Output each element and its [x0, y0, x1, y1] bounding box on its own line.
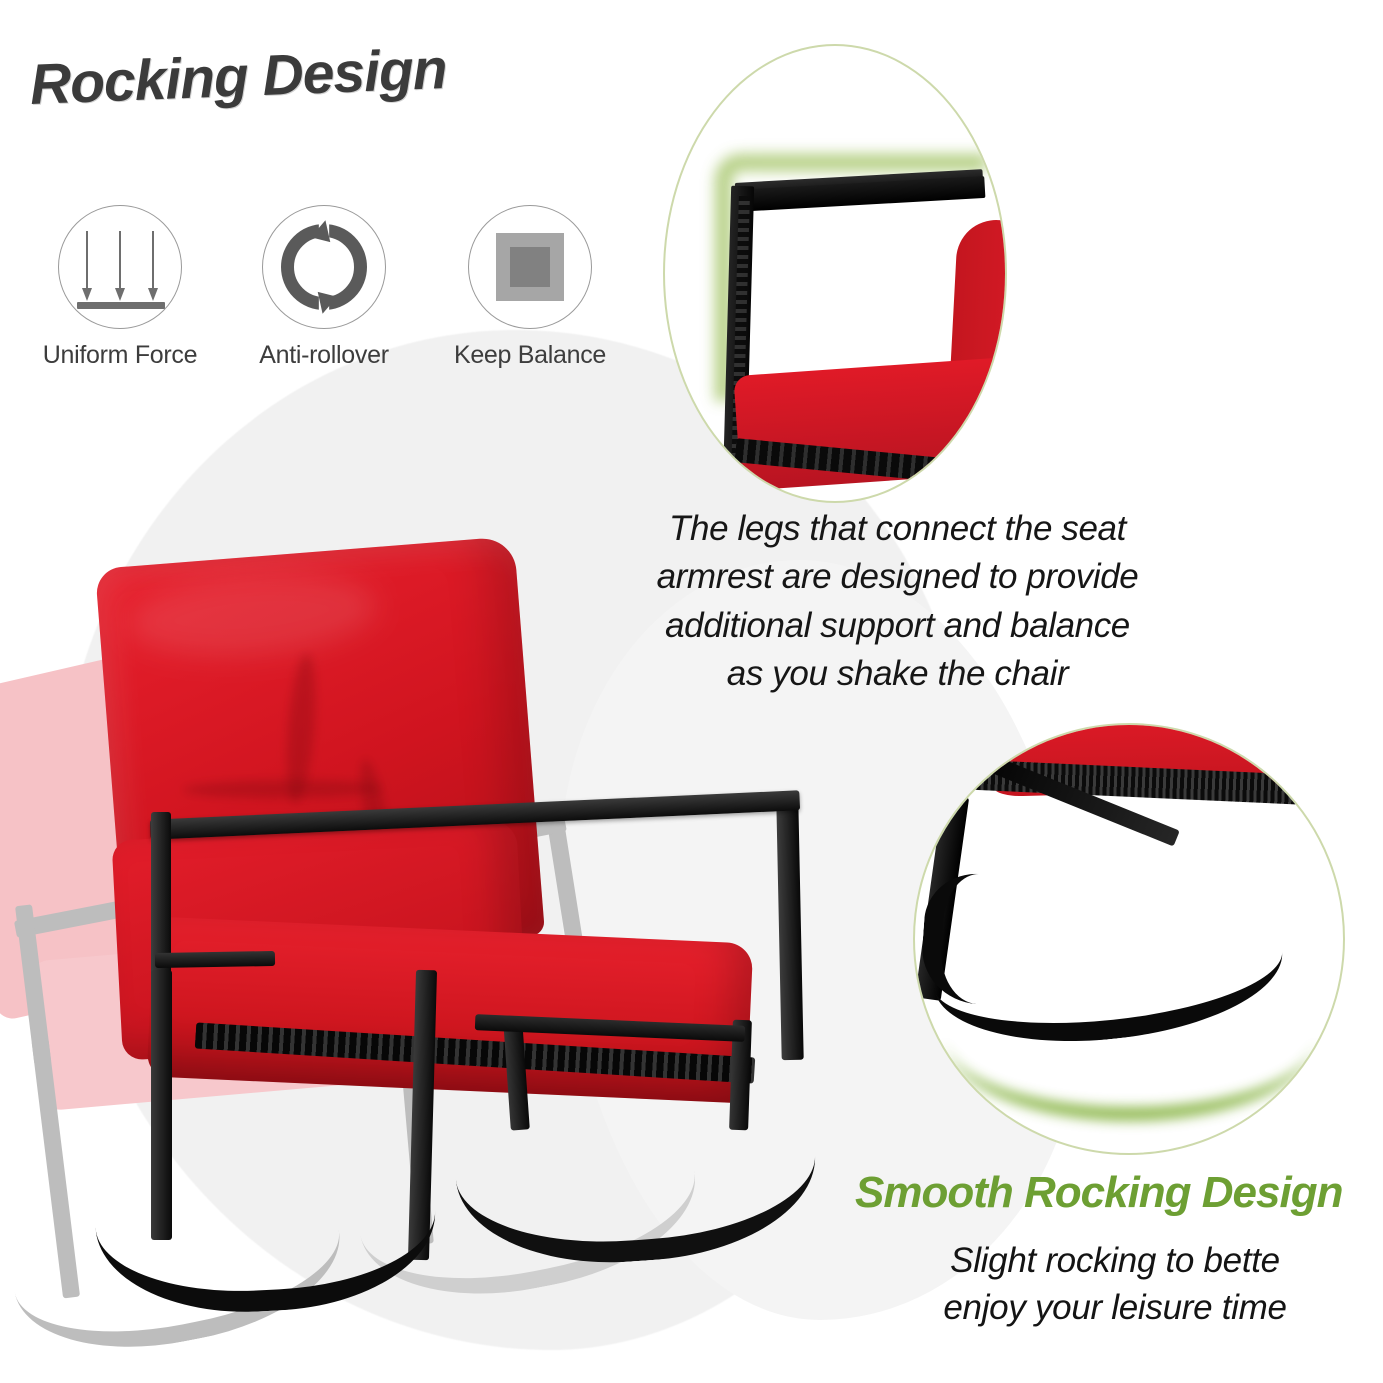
smooth-rocking-headline: Smooth Rocking Design: [855, 1168, 1383, 1218]
feature-label: Keep Balance: [430, 341, 630, 370]
feature-icon-circle: [58, 205, 182, 329]
armrest-bottom-rail: [155, 951, 275, 968]
feature-icon-circle: [262, 205, 386, 329]
feature-list: Uniform Force Anti-rollover Keep Balance: [20, 205, 620, 395]
downward-arrows-on-bar-icon: [59, 206, 181, 328]
armrest-closeup-inset: [663, 44, 1007, 503]
feature-item-keep-balance: Keep Balance: [430, 205, 630, 370]
nested-squares-icon: [496, 233, 564, 301]
page-title: Rocking Design: [29, 36, 448, 118]
feature-icon-circle: [468, 205, 592, 329]
feature-item-uniform-force: Uniform Force: [20, 205, 220, 370]
rocking-chair: [55, 500, 855, 1300]
infographic-canvas: Rocking Design Uniform Force Anti-rollov…: [0, 0, 1383, 1383]
feature-label: Anti-rollover: [224, 341, 424, 370]
feature-label: Uniform Force: [20, 341, 220, 370]
green-swoosh-accent: [945, 957, 1315, 1121]
main-product-image: [0, 500, 860, 1320]
feature-item-anti-rollover: Anti-rollover: [224, 205, 424, 370]
armrest-post-right: [776, 800, 803, 1060]
circular-rotation-arrows-icon: [281, 224, 367, 310]
smooth-rocking-subtitle: Slight rocking to bette enjoy your leisu…: [860, 1238, 1370, 1331]
rocker-runner-front: [90, 1106, 440, 1320]
rocker-closeup-inset: [913, 723, 1345, 1155]
subtitle-line: enjoy your leisure time: [860, 1285, 1370, 1332]
subtitle-line: Slight rocking to bette: [860, 1238, 1370, 1285]
rocker-runner-back: [448, 1048, 821, 1274]
